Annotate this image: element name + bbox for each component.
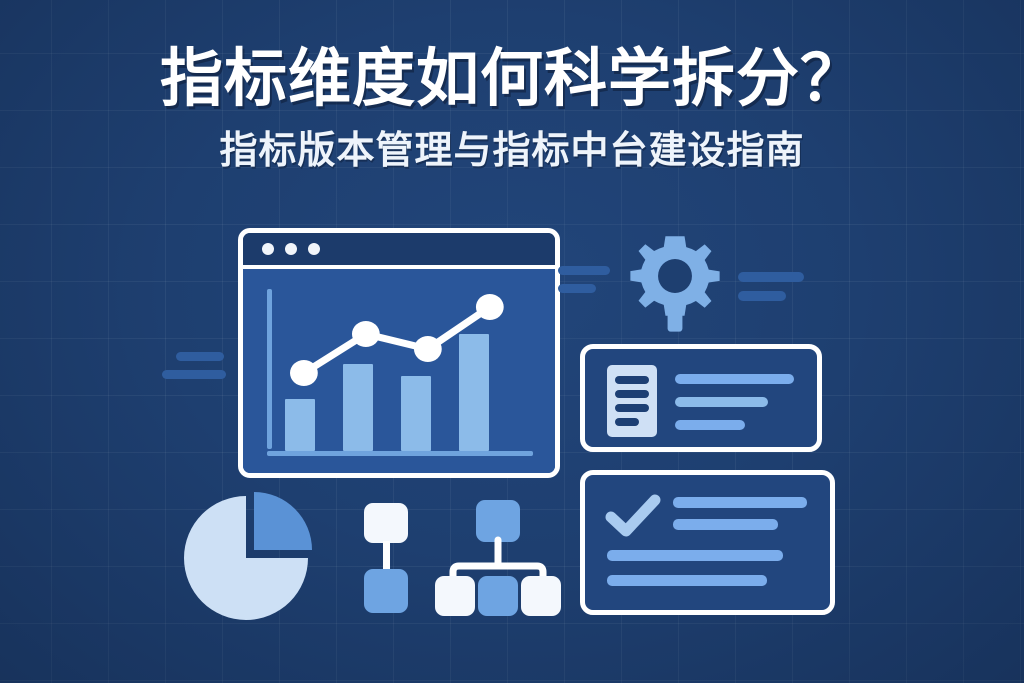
deco-line	[162, 370, 226, 379]
node-tree-child-3[interactable]	[521, 576, 561, 616]
chart-bar	[401, 376, 431, 451]
analytics-window[interactable]	[238, 228, 560, 478]
doc-text-line	[675, 374, 794, 384]
node-pair-bottom[interactable]	[364, 569, 408, 613]
pie-chart-svg	[180, 490, 320, 625]
deco-line	[738, 272, 804, 282]
list-icon-bar	[615, 404, 649, 412]
heading-block: 指标维度如何科学拆分？ 指标版本管理与指标中台建设指南	[0, 44, 1024, 174]
chart-plot-area	[243, 269, 555, 478]
deco-line	[558, 284, 596, 293]
list-icon-bar	[615, 418, 639, 426]
deco-line	[738, 291, 786, 301]
poster-canvas: 指标维度如何科学拆分？ 指标版本管理与指标中台建设指南	[0, 0, 1024, 683]
document-card[interactable]	[580, 344, 822, 452]
chart-line-marker	[290, 360, 318, 386]
check-icon	[605, 493, 661, 539]
node-pair-diagram[interactable]	[360, 503, 420, 615]
node-pair-top[interactable]	[364, 503, 408, 543]
gear-block	[620, 232, 730, 338]
list-icon	[607, 365, 657, 437]
check-text-line	[607, 575, 767, 586]
checklist-card[interactable]	[580, 470, 835, 615]
chart-line-marker	[476, 294, 504, 320]
window-dot-minimize-icon[interactable]	[285, 243, 297, 255]
deco-line	[558, 266, 610, 275]
pie-chart[interactable]	[180, 490, 320, 625]
gear-icon[interactable]	[620, 232, 730, 338]
doc-text-line	[675, 397, 768, 407]
window-dot-close-icon[interactable]	[262, 243, 274, 255]
node-tree-child-1[interactable]	[435, 576, 475, 616]
node-pair-connector	[383, 541, 390, 571]
doc-text-line	[675, 420, 745, 430]
node-tree-diagram[interactable]	[435, 500, 559, 618]
chart-line-marker	[414, 336, 442, 362]
deco-line	[176, 352, 224, 361]
check-text-line	[673, 497, 807, 508]
chart-bar	[459, 334, 489, 451]
list-icon-bar	[615, 376, 649, 384]
page-title: 指标维度如何科学拆分？	[0, 44, 1024, 115]
chart-bar	[285, 399, 315, 452]
node-tree-child-2[interactable]	[478, 576, 518, 616]
window-dot-maximize-icon[interactable]	[308, 243, 320, 255]
check-text-line	[607, 550, 783, 561]
chart-bar	[343, 364, 373, 451]
window-titlebar	[243, 233, 555, 269]
check-text-line	[673, 519, 778, 530]
list-icon-bar	[615, 390, 649, 398]
chart-line-marker	[352, 321, 380, 347]
page-subtitle: 指标版本管理与指标中台建设指南	[0, 129, 1024, 175]
left-decoration-lines	[162, 352, 242, 382]
